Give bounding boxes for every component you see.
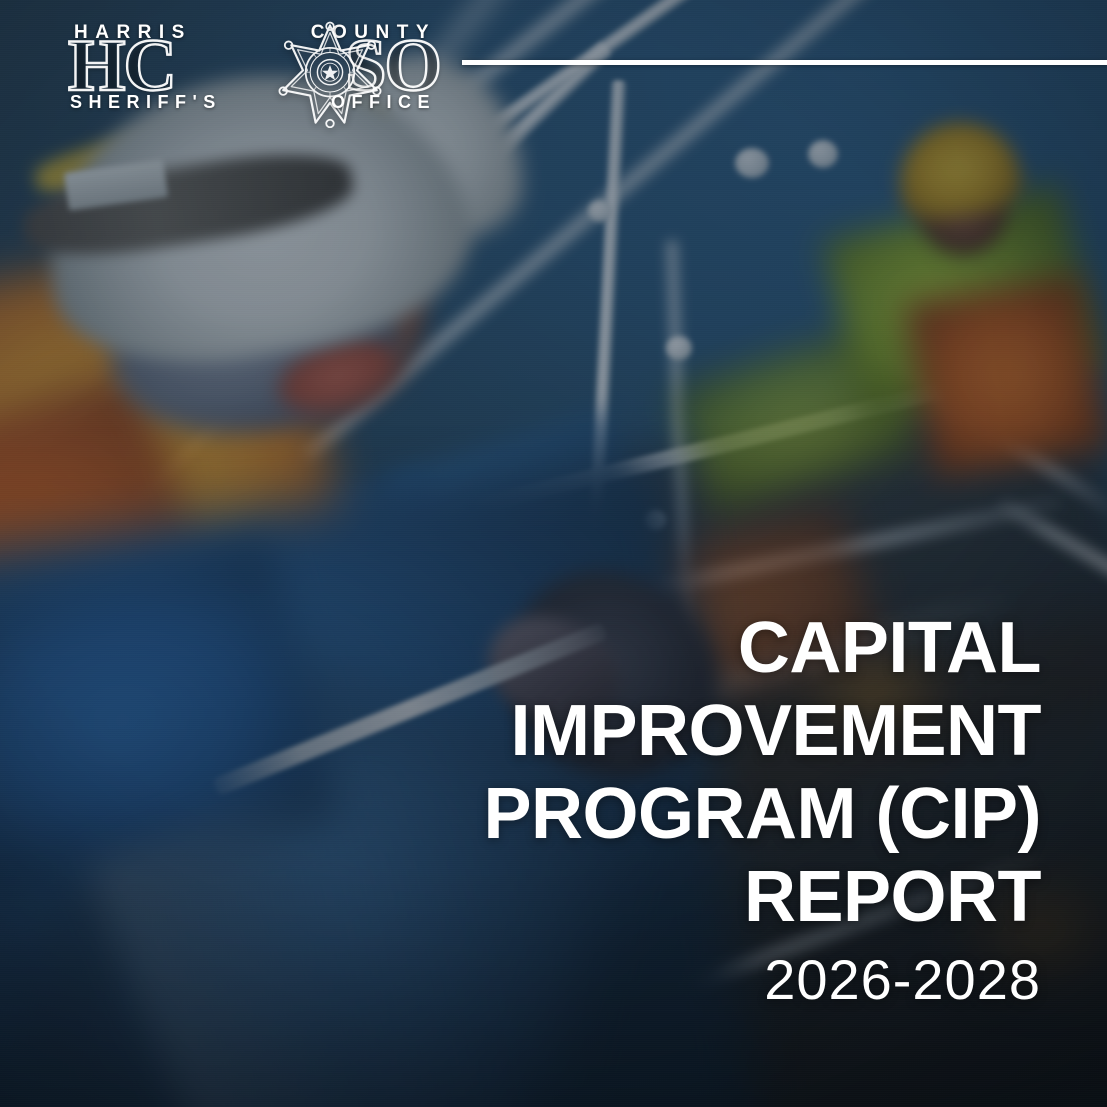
- logo-word-office: OFFICE: [331, 92, 436, 113]
- page-subtitle-years: 2026-2028: [281, 949, 1041, 1011]
- logo-bottom-words: SHERIFF'S OFFICE: [70, 92, 436, 113]
- title-line-4: REPORT: [281, 856, 1041, 939]
- title-line-1: CAPITAL: [281, 607, 1041, 690]
- title-line-3: PROGRAM (CIP): [281, 773, 1041, 856]
- header-divider-rule: [462, 60, 1107, 65]
- title-line-2: IMPROVEMENT: [281, 690, 1041, 773]
- logo-word-sheriffs: SHERIFF'S: [70, 92, 222, 113]
- page-title: CAPITAL IMPROVEMENT PROGRAM (CIP) REPORT: [281, 607, 1041, 939]
- report-cover-page: HARRIS COUNTY HC SO: [0, 0, 1107, 1107]
- cover-title-block: CAPITAL IMPROVEMENT PROGRAM (CIP) REPORT…: [281, 607, 1041, 1011]
- hcso-agency-logo: HARRIS COUNTY HC SO: [70, 22, 436, 116]
- logo-monogram-hc: HC: [68, 36, 175, 96]
